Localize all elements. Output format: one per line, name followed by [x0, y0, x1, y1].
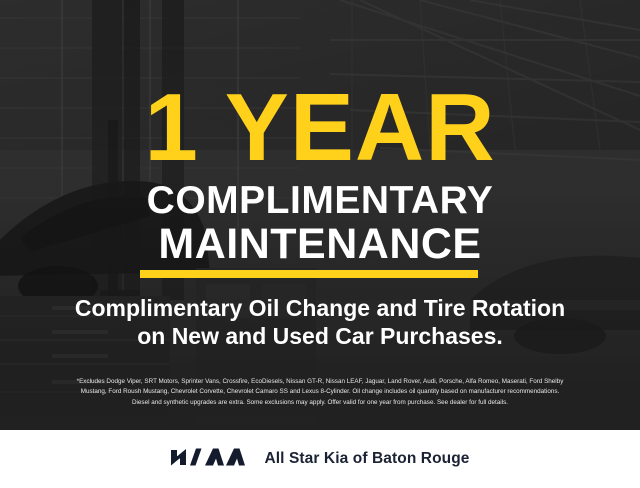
disclaimer-line-2: Mustang, Ford Roush Mustang, Chevrolet C…: [12, 387, 628, 397]
dealer-name-label: All Star Kia of Baton Rouge: [264, 450, 469, 468]
yellow-divider-bar: [140, 270, 478, 278]
headline-secondary-line1: COMPLIMENTARY: [0, 181, 640, 221]
headline-primary: 1 YEAR: [0, 80, 640, 176]
dealer-footer: All Star Kia of Baton Rouge: [0, 430, 640, 488]
legal-disclaimer: *Excludes Dodge Viper, SRT Motors, Sprin…: [12, 377, 628, 408]
disclaimer-line-1: *Excludes Dodge Viper, SRT Motors, Sprin…: [12, 377, 628, 387]
headline-secondary-line2: MAINTENANCE: [0, 222, 640, 266]
disclaimer-line-3: Diesel and synthetic upgrades are extra.…: [12, 398, 628, 408]
offer-description-line2: on New and Used Car Purchases.: [0, 322, 640, 350]
offer-description-line1: Complimentary Oil Change and Tire Rotati…: [0, 294, 640, 322]
kia-logo-icon: [170, 445, 246, 474]
hero-content: 1 YEAR COMPLIMENTARY MAINTENANCE Complim…: [0, 0, 640, 430]
promotional-ad-banner: 1 YEAR COMPLIMENTARY MAINTENANCE Complim…: [0, 0, 640, 488]
